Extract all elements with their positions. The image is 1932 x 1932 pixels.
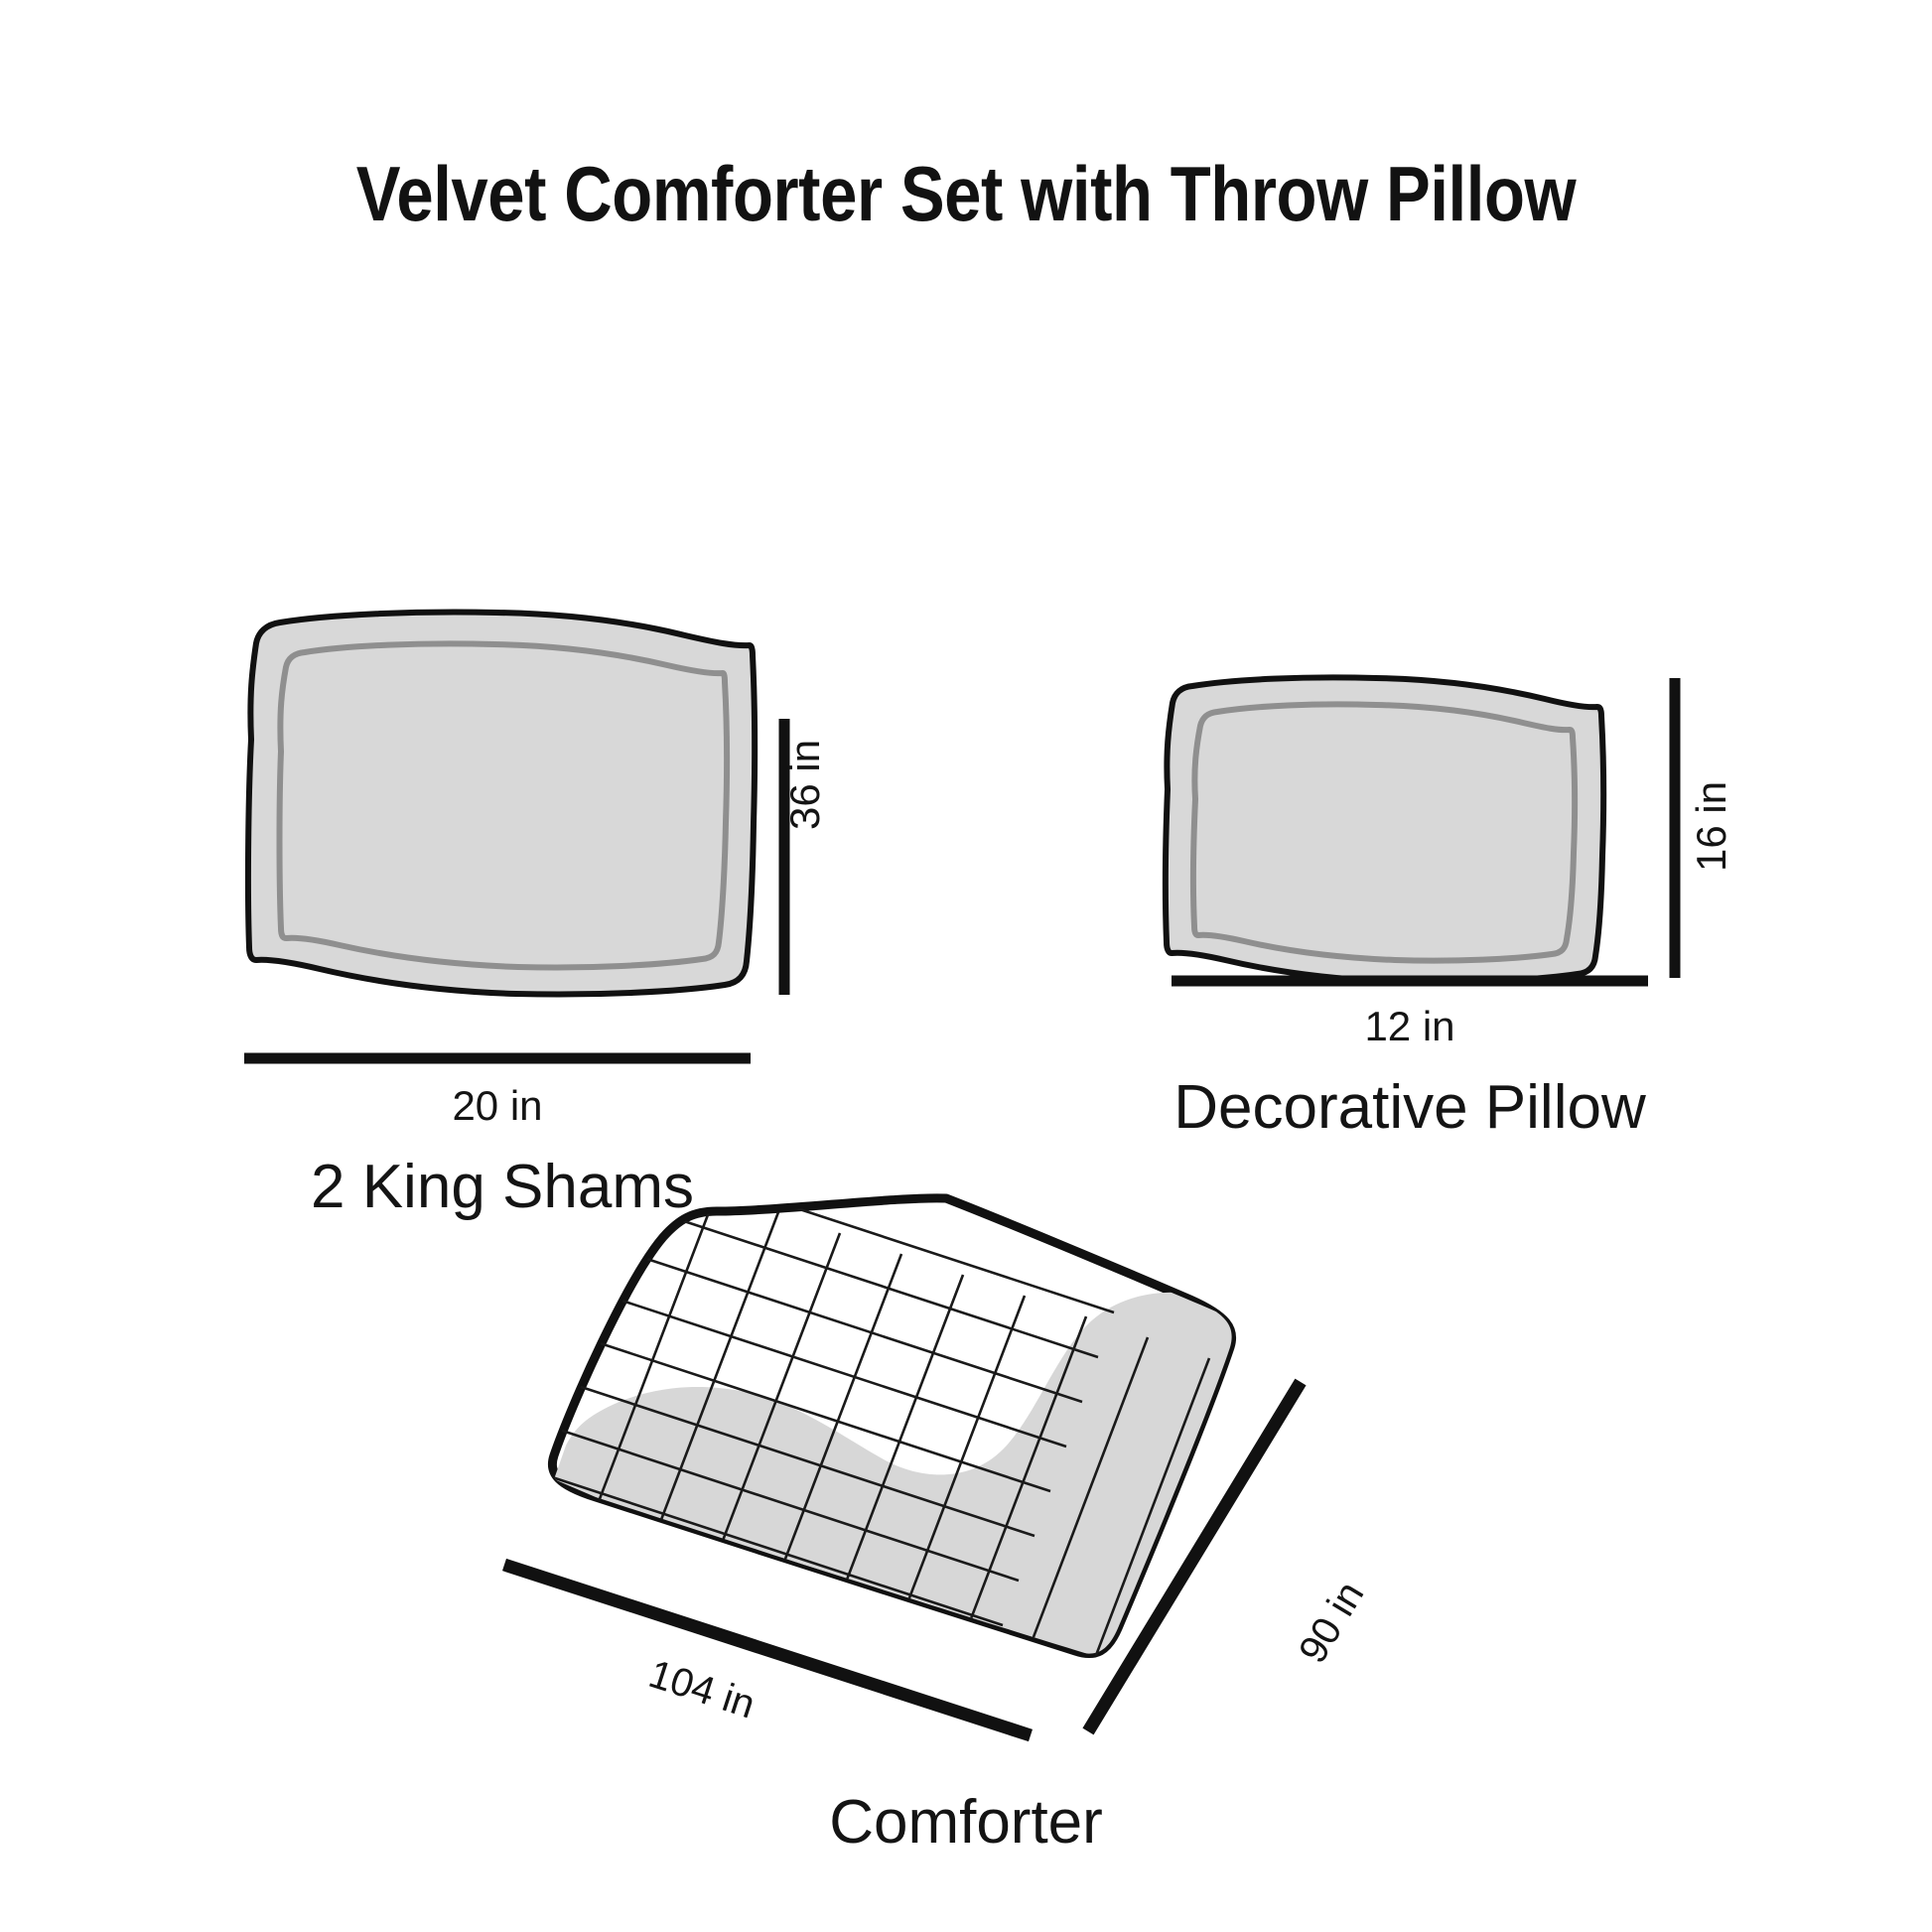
pillow-decorative-icon <box>1166 677 1603 982</box>
pillow-sham-icon <box>248 612 755 994</box>
sham-caption: 2 King Shams <box>0 1152 1005 1222</box>
product-dimension-diagram: Velvet Comforter Set with Throw Pillow <box>0 0 1932 1932</box>
sham-height-label: 36 in <box>781 740 829 830</box>
diagram-artwork <box>0 0 1932 1932</box>
pillow-caption: Decorative Pillow <box>1102 1072 1718 1143</box>
comforter-caption: Comforter <box>0 1787 1932 1858</box>
pillow-height-label: 16 in <box>1688 781 1735 872</box>
sham-width-label: 20 in <box>0 1082 995 1130</box>
pillow-width-label: 12 in <box>1162 1003 1658 1050</box>
comforter-quilt-icon <box>496 1157 1271 1796</box>
